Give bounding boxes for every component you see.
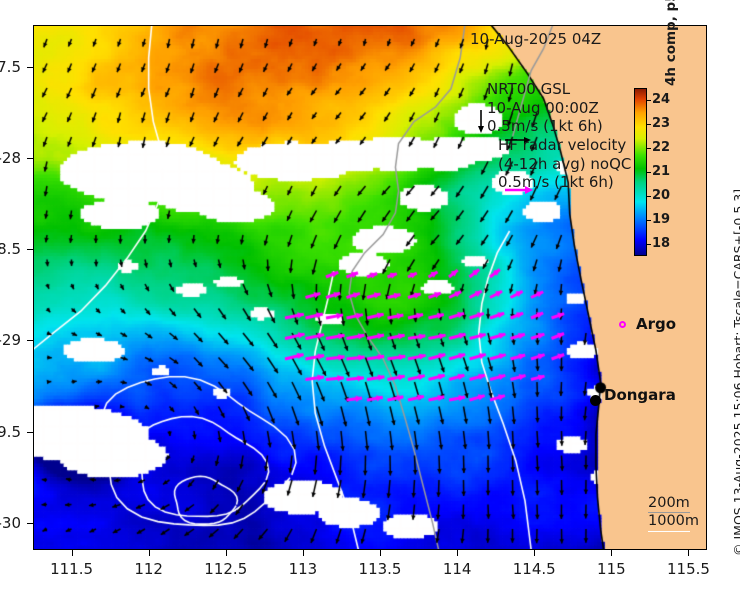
y-tick-label: -27.5 bbox=[0, 58, 21, 76]
x-tick-mark bbox=[149, 550, 150, 556]
x-tick-label: 114.5 bbox=[504, 560, 564, 578]
y-tick-label: -29.5 bbox=[0, 423, 21, 441]
y-tick-label: -28 bbox=[0, 149, 21, 167]
y-tick-mark bbox=[27, 523, 33, 524]
x-tick-label: 113 bbox=[273, 560, 333, 578]
x-tick-mark bbox=[611, 550, 612, 556]
colorbar-tick-label: 20 bbox=[652, 188, 670, 203]
x-tick-mark bbox=[72, 550, 73, 556]
colorbar-tick-label: 19 bbox=[652, 212, 670, 227]
depth-1000m-label: 1000m bbox=[648, 513, 699, 529]
y-tick-label: -29 bbox=[0, 331, 21, 349]
colorbar-tick-mark bbox=[647, 172, 651, 173]
y-tick-label: -30 bbox=[0, 514, 21, 532]
map-plot-area[interactable] bbox=[33, 25, 707, 550]
y-tick-mark bbox=[27, 340, 33, 341]
y-tick-mark bbox=[27, 432, 33, 433]
model-legend-line1: NRT00 GSL bbox=[487, 80, 603, 99]
y-tick-label: -28.5 bbox=[0, 240, 21, 258]
y-tick-mark bbox=[27, 249, 33, 250]
argo-legend-label: Argo bbox=[636, 315, 676, 333]
x-tick-mark bbox=[303, 550, 304, 556]
radar-legend-line1: HF radar velocity bbox=[498, 136, 631, 155]
x-tick-mark bbox=[226, 550, 227, 556]
colorbar bbox=[634, 88, 647, 256]
x-tick-label: 114 bbox=[427, 560, 487, 578]
model-legend-scale: 0.5m/s (1kt 6h) bbox=[487, 117, 603, 136]
colorbar-tick-mark bbox=[647, 244, 651, 245]
x-tick-label: 115 bbox=[581, 560, 641, 578]
colorbar-tick-label: 21 bbox=[652, 164, 670, 179]
date-stamp: 10-Aug-2025 04Z bbox=[470, 30, 601, 48]
colorbar-tick-mark bbox=[647, 220, 651, 221]
colorbar-tick-label: 24 bbox=[652, 92, 670, 107]
colorbar-tick-label: 22 bbox=[652, 140, 670, 155]
x-tick-mark bbox=[457, 550, 458, 556]
figure-canvas: 111.5112112.5113113.5114114.5115115.5-27… bbox=[0, 0, 740, 592]
x-tick-label: 113.5 bbox=[350, 560, 410, 578]
colorbar-tick-label: 23 bbox=[652, 116, 670, 131]
x-tick-label: 111.5 bbox=[42, 560, 102, 578]
dongara-marker-icon bbox=[590, 395, 601, 406]
credit-text: © IMOS 13-Aug-2025 15:06 Hobart; Tscale=… bbox=[731, 189, 740, 556]
sst-raster bbox=[33, 25, 707, 550]
radar-legend-line2: (4-12h avg) noQC bbox=[498, 155, 631, 174]
y-tick-mark bbox=[27, 67, 33, 68]
radar-legend-block: HF radar velocity (4-12h avg) noQC 0.5m/… bbox=[498, 136, 631, 192]
model-legend-line2: 10-Aug 00:00Z bbox=[487, 99, 603, 118]
colorbar-tick-mark bbox=[647, 124, 651, 125]
x-tick-label: 115.5 bbox=[658, 560, 718, 578]
x-tick-mark bbox=[688, 550, 689, 556]
x-tick-label: 112 bbox=[119, 560, 179, 578]
x-tick-label: 112.5 bbox=[196, 560, 256, 578]
colorbar-tick-mark bbox=[647, 100, 651, 101]
colorbar-tick-mark bbox=[647, 196, 651, 197]
colorbar-label: 4h comp, p50, All Sats bbox=[663, 0, 679, 86]
x-tick-mark bbox=[534, 550, 535, 556]
dongara-label: Dongara bbox=[604, 386, 676, 404]
radar-legend-scale: 0.5m/s (1kt 6h) bbox=[498, 173, 631, 192]
depth-200m-label: 200m bbox=[648, 495, 690, 511]
argo-marker-icon bbox=[619, 321, 626, 328]
y-tick-mark bbox=[27, 158, 33, 159]
x-tick-mark bbox=[380, 550, 381, 556]
colorbar-tick-label: 18 bbox=[652, 236, 670, 251]
colorbar-tick-mark bbox=[647, 148, 651, 149]
model-legend-block: NRT00 GSL 10-Aug 00:00Z 0.5m/s (1kt 6h) bbox=[487, 80, 603, 136]
depth-1000m-swatch bbox=[648, 531, 690, 532]
